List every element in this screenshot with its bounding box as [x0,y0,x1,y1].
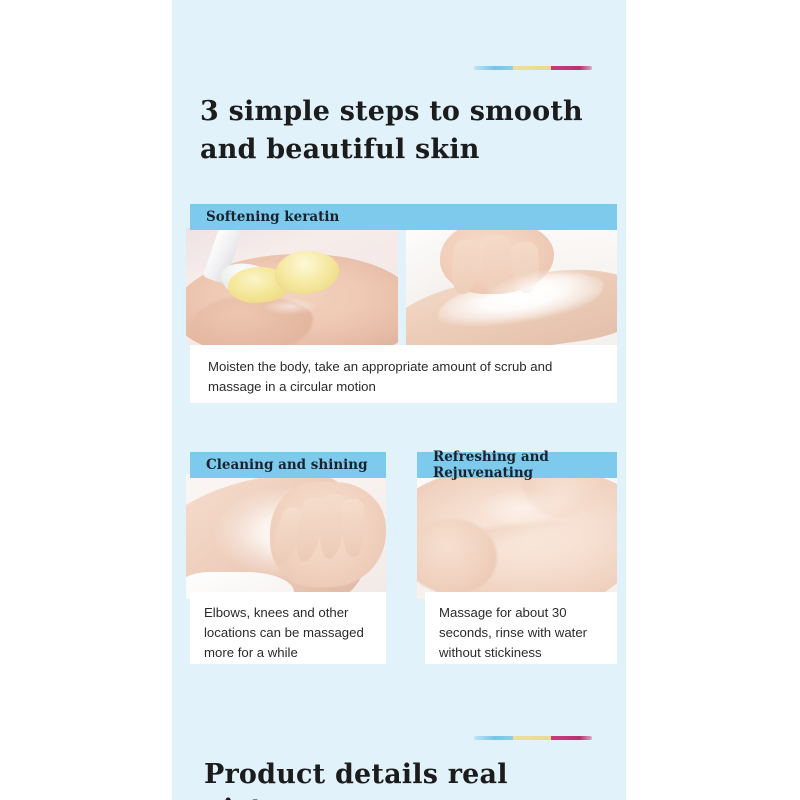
step-2-caption-panel: Elbows, knees and other locations can be… [190,592,386,664]
rule-segment-blue [474,736,513,740]
step-2-header: Cleaning and shining [190,452,386,478]
step-3-header: Refreshing and Rejuvenating [417,452,617,478]
rule-segment-yellow [513,736,552,740]
product-detail-page: 3 simple steps to smooth and beautiful s… [172,0,626,800]
step-1-header-label: Softening keratin [190,209,339,225]
step-3-header-label: Refreshing and Rejuvenating [417,449,617,481]
step-1-caption-text: Moisten the body, take an appropriate am… [208,357,599,397]
decorative-rule-top [474,66,592,70]
step-3-photo-1 [417,474,617,599]
section-title-product-details: Product details real pictures [204,757,614,800]
step-2-photo-1 [186,474,386,599]
step-3-caption-panel: Massage for about 30 seconds, rinse with… [425,592,617,664]
step-1-header: Softening keratin [190,204,617,230]
rule-segment-yellow [513,66,552,70]
step-1-photo-2 [406,228,617,345]
step-2-header-label: Cleaning and shining [190,457,368,473]
step-1-caption-panel: Moisten the body, take an appropriate am… [190,345,617,403]
rule-segment-blue [474,66,513,70]
step-2-caption-text: Elbows, knees and other locations can be… [204,603,372,663]
step-1-photo-1 [186,228,398,345]
page-title: 3 simple steps to smooth and beautiful s… [200,93,600,170]
rule-segment-magenta [551,66,592,70]
decorative-rule-bottom [474,736,592,740]
step-3-caption-text: Massage for about 30 seconds, rinse with… [439,603,603,663]
rule-segment-magenta [551,736,592,740]
